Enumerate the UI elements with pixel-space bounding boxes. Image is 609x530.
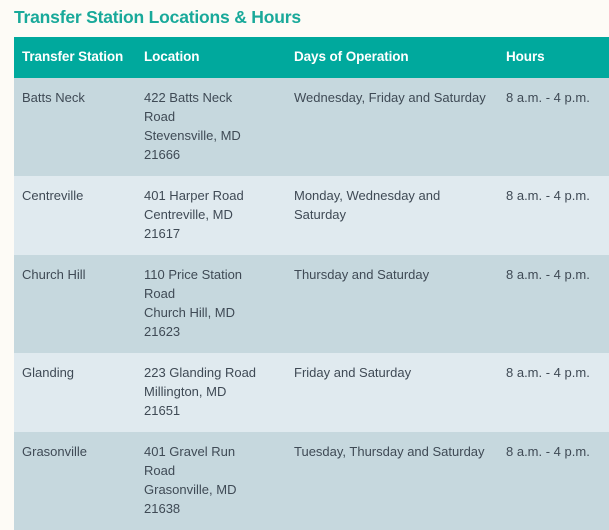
page-container: Transfer Station Locations & Hours Trans… bbox=[0, 0, 609, 493]
cell-hours: 8 a.m. - 4 p.m. bbox=[498, 78, 602, 176]
transfer-station-table-wrapper: Transfer Station Location Days of Operat… bbox=[14, 37, 595, 530]
location-line: 21638 bbox=[144, 499, 278, 518]
location-line: 21651 bbox=[144, 401, 278, 420]
cell-map: View Map bbox=[602, 176, 609, 255]
cell-map: View Map bbox=[602, 255, 609, 353]
location-line: 422 Batts Neck bbox=[144, 88, 278, 107]
location-line: Road bbox=[144, 461, 278, 480]
cell-days-of-operation: Tuesday, Thursday and Saturday bbox=[286, 432, 498, 530]
location-line: Road bbox=[144, 107, 278, 126]
cell-location: 422 Batts NeckRoadStevensville, MD21666 bbox=[136, 78, 286, 176]
location-line: 110 Price Station bbox=[144, 265, 278, 284]
location-line: 401 Gravel Run bbox=[144, 442, 278, 461]
cell-hours: 8 a.m. - 4 p.m. bbox=[498, 432, 602, 530]
page-title: Transfer Station Locations & Hours bbox=[0, 0, 609, 29]
cell-location: 110 Price StationRoadChurch Hill, MD2162… bbox=[136, 255, 286, 353]
location-line: Church Hill, MD bbox=[144, 303, 278, 322]
table-row: Batts Neck422 Batts NeckRoadStevensville… bbox=[14, 78, 609, 176]
location-line: 223 Glanding Road bbox=[144, 363, 278, 382]
location-line: Centreville, MD bbox=[144, 205, 278, 224]
column-header-transfer-station: Transfer Station bbox=[14, 37, 136, 78]
cell-map: View Map bbox=[602, 353, 609, 432]
cell-transfer-station: Centreville bbox=[14, 176, 136, 255]
cell-transfer-station: Grasonville bbox=[14, 432, 136, 530]
cell-location: 223 Glanding RoadMillington, MD21651 bbox=[136, 353, 286, 432]
cell-map: View Map bbox=[602, 78, 609, 176]
column-header-location: Location bbox=[136, 37, 286, 78]
table-row: Church Hill110 Price StationRoadChurch H… bbox=[14, 255, 609, 353]
cell-transfer-station: Glanding bbox=[14, 353, 136, 432]
cell-days-of-operation: Thursday and Saturday bbox=[286, 255, 498, 353]
cell-hours: 8 a.m. - 4 p.m. bbox=[498, 255, 602, 353]
location-line: Millington, MD bbox=[144, 382, 278, 401]
table-row: Centreville401 Harper RoadCentreville, M… bbox=[14, 176, 609, 255]
cell-hours: 8 a.m. - 4 p.m. bbox=[498, 176, 602, 255]
table-row: Glanding223 Glanding RoadMillington, MD2… bbox=[14, 353, 609, 432]
column-header-map: Map bbox=[602, 37, 609, 78]
table-header: Transfer Station Location Days of Operat… bbox=[14, 37, 609, 78]
location-line: 21617 bbox=[144, 224, 278, 243]
cell-location: 401 Gravel RunRoadGrasonville, MD21638 bbox=[136, 432, 286, 530]
location-line: Road bbox=[144, 284, 278, 303]
transfer-station-table: Transfer Station Location Days of Operat… bbox=[14, 37, 609, 530]
table-row: Grasonville401 Gravel RunRoadGrasonville… bbox=[14, 432, 609, 530]
table-body: Batts Neck422 Batts NeckRoadStevensville… bbox=[14, 78, 609, 530]
location-line: 401 Harper Road bbox=[144, 186, 278, 205]
cell-location: 401 Harper RoadCentreville, MD21617 bbox=[136, 176, 286, 255]
cell-transfer-station: Church Hill bbox=[14, 255, 136, 353]
location-line: 21666 bbox=[144, 145, 278, 164]
cell-transfer-station: Batts Neck bbox=[14, 78, 136, 176]
location-line: Grasonville, MD bbox=[144, 480, 278, 499]
column-header-days-of-operation: Days of Operation bbox=[286, 37, 498, 78]
cell-hours: 8 a.m. - 4 p.m. bbox=[498, 353, 602, 432]
column-header-hours: Hours bbox=[498, 37, 602, 78]
location-line: 21623 bbox=[144, 322, 278, 341]
cell-days-of-operation: Friday and Saturday bbox=[286, 353, 498, 432]
cell-days-of-operation: Wednesday, Friday and Saturday bbox=[286, 78, 498, 176]
location-line: Stevensville, MD bbox=[144, 126, 278, 145]
cell-map: View Map bbox=[602, 432, 609, 530]
table-header-row: Transfer Station Location Days of Operat… bbox=[14, 37, 609, 78]
cell-days-of-operation: Monday, Wednesday and Saturday bbox=[286, 176, 498, 255]
